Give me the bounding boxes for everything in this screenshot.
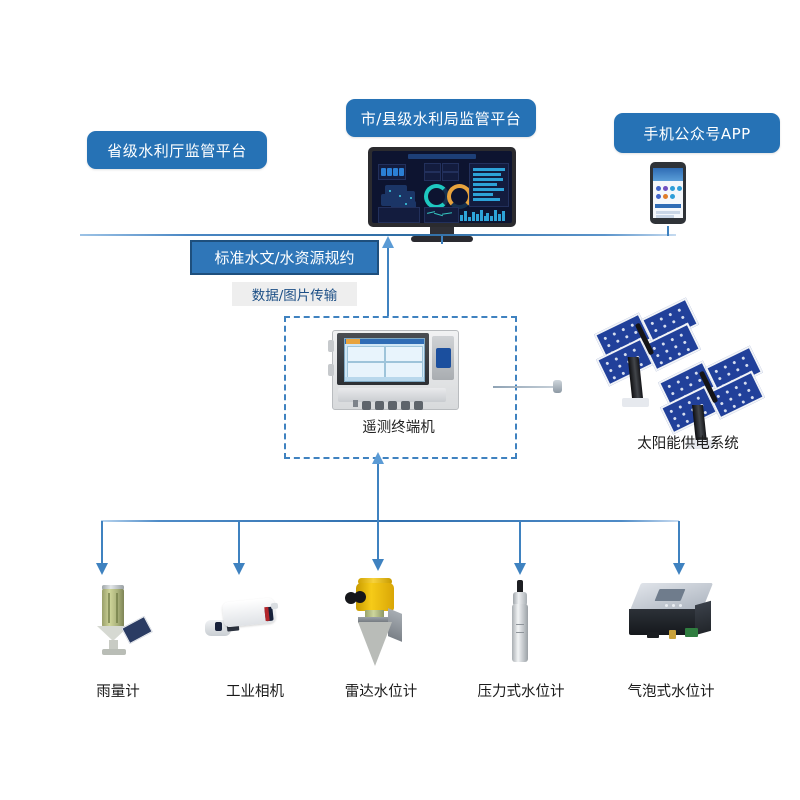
phone-icon	[650, 162, 686, 224]
drop-leg-bubbler	[678, 521, 680, 565]
mini-panel	[378, 207, 420, 223]
platform-provincial-button[interactable]: 省级水利厅监管平台	[87, 131, 267, 169]
diagram-canvas: 省级水利厅监管平台 市/县级水利局监管平台 手机公众号APP	[0, 0, 800, 800]
rtu-uplink-arrow-icon	[372, 452, 384, 464]
sensor-label-rain-gauge: 雨量计	[96, 684, 140, 700]
sensor-label-bubbler: 气泡式水位计	[628, 684, 715, 700]
antenna-cable	[493, 386, 559, 388]
solar-power-label: 太阳能供电系统	[637, 436, 739, 452]
pressure-probe-icon	[508, 580, 534, 662]
arrow-down-bubbler-icon	[673, 563, 685, 575]
drop-leg-camera	[238, 521, 240, 565]
column-chart	[486, 209, 505, 221]
solar-power-caption: 太阳能供电系统	[588, 432, 788, 453]
sensor-caption-camera: 工业相机	[185, 680, 325, 701]
monitor-riser	[441, 236, 443, 244]
dashboard-header-bar	[408, 154, 476, 159]
metric-tile	[424, 163, 441, 172]
sensor-caption-rain-gauge: 雨量计	[48, 680, 188, 701]
platform-app-label: 手机公众号APP	[643, 123, 750, 144]
radar-level-icon	[344, 578, 418, 668]
phone-screen	[653, 168, 683, 218]
platform-city-button[interactable]: 市/县级水利局监管平台	[346, 99, 536, 137]
dashboard-kpi-panel	[378, 164, 406, 180]
drop-leg-rain-gauge	[101, 521, 103, 565]
sensor-caption-pressure: 压力式水位计	[451, 680, 591, 701]
arrow-down-radar-icon	[372, 559, 384, 571]
uplink-arrow-icon	[382, 236, 394, 248]
transmission-label-box: 数据/图片传输	[232, 282, 357, 306]
donut-chart	[424, 184, 449, 209]
platform-city-label: 市/县级水利局监管平台	[361, 108, 522, 129]
protocol-label: 标准水文/水资源规约	[214, 247, 354, 268]
drop-leg-radar	[377, 521, 379, 561]
line-chart-panel	[424, 207, 459, 223]
rain-gauge-icon	[82, 585, 154, 657]
metric-tile	[424, 172, 441, 181]
arrow-down-camera-icon	[233, 563, 245, 575]
platform-bus-line	[80, 234, 676, 236]
antenna-tip-icon	[553, 380, 562, 393]
platform-app-button[interactable]: 手机公众号APP	[614, 113, 780, 153]
bar-chart-panel	[469, 163, 509, 207]
bubbler-icon	[625, 583, 725, 653]
platform-provincial-label: 省级水利厅监管平台	[107, 140, 247, 161]
arrow-down-rain-gauge-icon	[96, 563, 108, 575]
monitor-icon	[368, 147, 516, 227]
sensor-label-camera: 工业相机	[226, 684, 284, 700]
monitor-screen	[372, 151, 512, 223]
metric-tile	[442, 172, 459, 181]
rtu-caption: 遥测终端机	[284, 416, 513, 437]
metric-tile	[442, 163, 459, 172]
rtu-device-icon	[332, 330, 457, 408]
camera-icon	[205, 592, 285, 650]
protocol-label-box: 标准水文/水资源规约	[190, 240, 379, 275]
solar-power-system-icon	[592, 300, 782, 450]
column-chart	[460, 209, 487, 221]
phone-app-header	[653, 168, 683, 181]
sensor-label-radar: 雷达水位计	[345, 684, 418, 700]
phone-banner	[655, 204, 681, 208]
sensor-label-pressure: 压力式水位计	[478, 684, 565, 700]
transmission-label: 数据/图片传输	[252, 284, 338, 304]
uplink-stem	[387, 244, 389, 316]
sensor-caption-radar: 雷达水位计	[311, 680, 451, 701]
solar-base	[622, 398, 649, 407]
drop-leg-pressure	[519, 521, 521, 565]
arrow-down-pressure-icon	[514, 563, 526, 575]
sensor-caption-bubbler: 气泡式水位计	[601, 680, 741, 701]
sensor-bus-line	[101, 520, 679, 522]
rtu-label: 遥测终端机	[362, 420, 435, 436]
phone-riser	[667, 226, 669, 236]
rtu-uplink-stem	[377, 462, 379, 522]
